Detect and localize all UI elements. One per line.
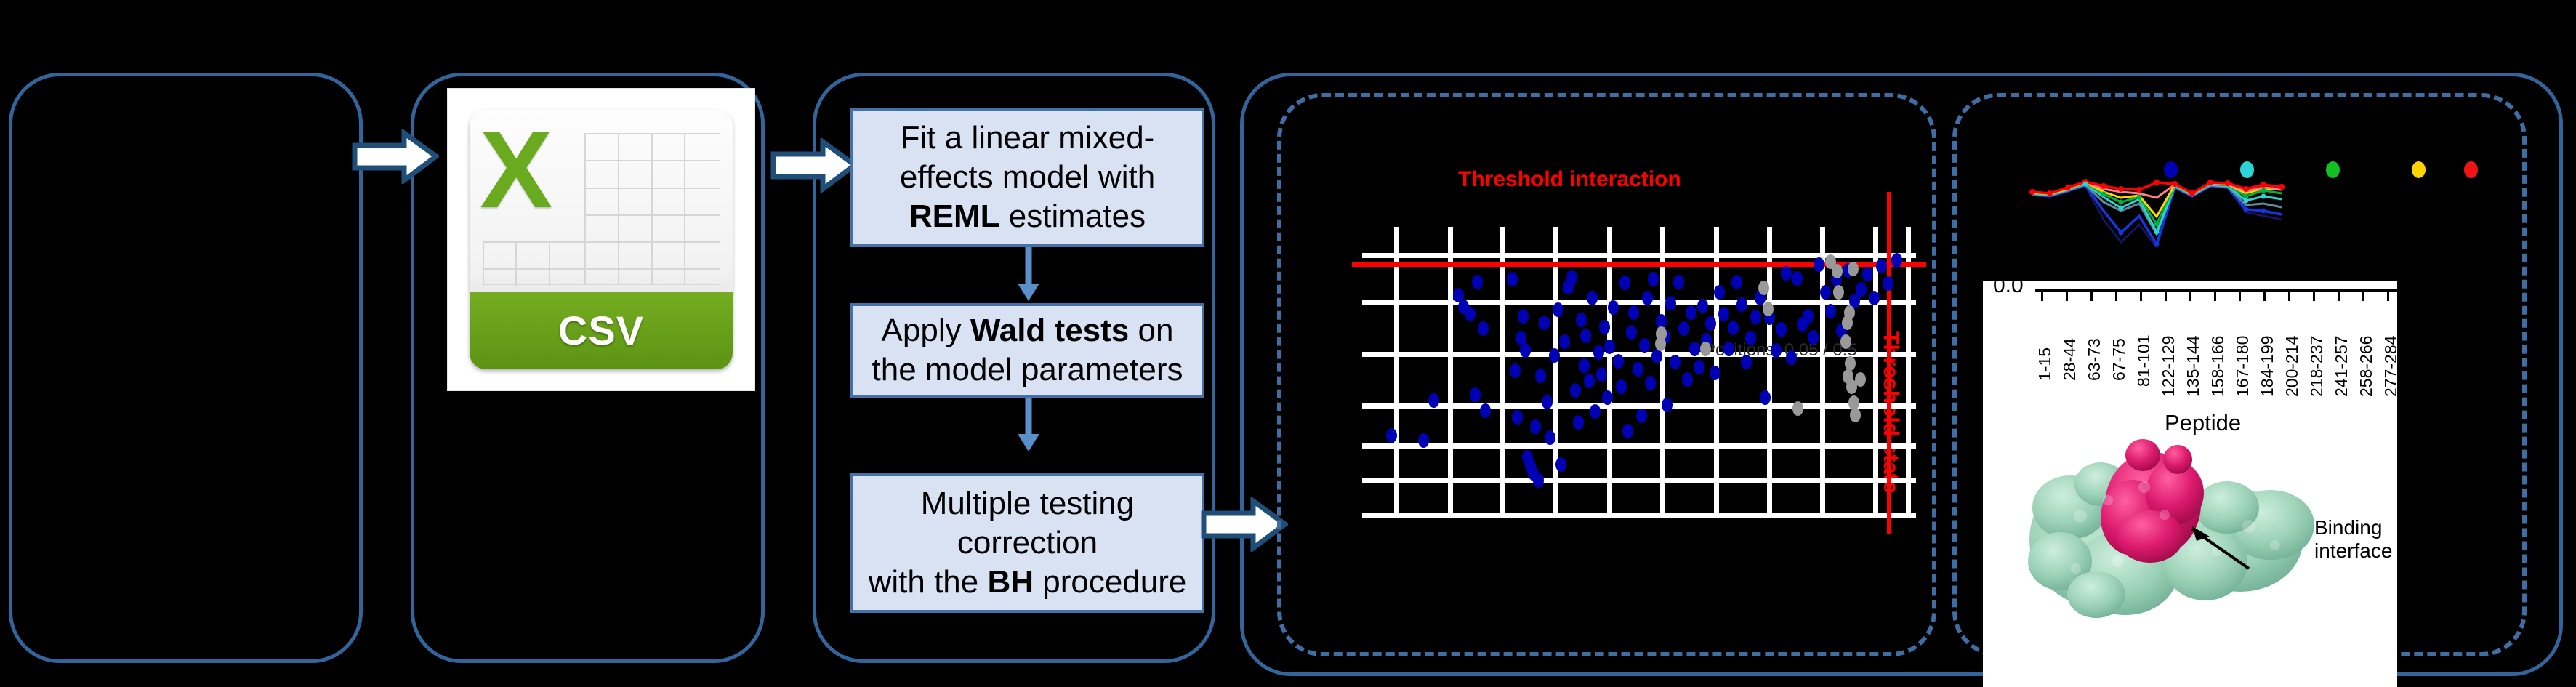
xtick-label: 158-166 [2208, 336, 2228, 397]
volcano-plot-area: Positions: 0.05 / 0.5 [1362, 227, 1916, 518]
step-mt-post: procedure [1034, 564, 1186, 600]
arrow-step2-to-step3 [1014, 398, 1043, 453]
step-fit-model-line1: Fit a linear mixed- [900, 118, 1155, 158]
step-wald-tests-line2: the model parameters [872, 350, 1183, 390]
step-wald-pre: Apply [882, 313, 970, 348]
step-mt-pre: with the [869, 564, 988, 600]
x-axis-line [2035, 289, 2397, 292]
xtick-label: 67-75 [2109, 338, 2129, 381]
threshold-interaction-label: Threshold interaction [1458, 167, 1681, 192]
xtick-label: 258-266 [2356, 336, 2376, 397]
step-wald-post: on [1129, 313, 1173, 348]
step-fit-model-box[interactable]: Fit a linear mixed- effects model with R… [850, 108, 1204, 247]
arrow-csv-to-stats [770, 138, 858, 193]
panel-input [9, 73, 363, 663]
xtick-label: 63-73 [2085, 338, 2104, 381]
csv-format-band: CSV [470, 292, 733, 369]
legend-dot-2 [2240, 161, 2254, 178]
legend-dot-4 [2412, 161, 2426, 178]
pipeline-figure: X CSV Fit a linear mixed- effects model … [0, 0, 2576, 687]
xtick-label: 218-237 [2307, 336, 2327, 397]
legend-dot-3 [2326, 161, 2340, 178]
xtick-label: 241-257 [2332, 336, 2351, 397]
step-mt-line2: correction [869, 523, 1187, 563]
step-mt-bh: BH [987, 564, 1034, 600]
xtick-label: 167-180 [2233, 336, 2253, 397]
threshold-state-line [1887, 192, 1891, 534]
step-multiple-testing-box[interactable]: Multiple testing correction with the BH … [850, 473, 1204, 613]
xtick-label: 277-284 [2381, 336, 2397, 397]
arrow-stats-to-results [1201, 497, 1288, 552]
step-fit-model-line2: effects model with [900, 158, 1155, 197]
step-mt-line1: Multiple testing [869, 484, 1187, 523]
csv-format-label: CSV [558, 307, 644, 354]
step-fit-model-line3: REML estimates [900, 197, 1155, 236]
legend-dot-5 [2464, 161, 2478, 178]
step-wald-tests-box[interactable]: Apply Wald tests on the model parameters [850, 303, 1204, 398]
xtick-label: 200-214 [2282, 336, 2302, 397]
arrow-input-to-csv [352, 129, 439, 184]
step-wald-bold: Wald tests [970, 313, 1129, 348]
arrow-step1-to-step2 [1014, 247, 1043, 302]
y-axis-tick-label: 0.0 [1993, 281, 2024, 298]
protein-structure-render [2009, 430, 2343, 641]
xtick-label: 28-44 [2060, 338, 2080, 381]
binding-interface-label-line2: interface [2314, 539, 2392, 563]
csv-file-icon: X CSV [448, 89, 754, 390]
step-fit-model-reml: REML [909, 198, 1000, 234]
binding-interface-label-line1: Binding [2314, 516, 2382, 539]
xtick-label: 184-199 [2258, 336, 2277, 397]
xtick-label: 81-101 [2134, 334, 2154, 387]
step-fit-model-estimates: estimates [1000, 198, 1146, 234]
xtick-label: 135-144 [2183, 336, 2203, 397]
volcano-plot: Threshold interaction Threshold state [1352, 145, 1926, 531]
peptide-line-chart-svg [2028, 167, 2544, 276]
csv-x-letter: X [480, 115, 585, 234]
step-wald-tests-line1: Apply Wald tests on [872, 311, 1183, 350]
xtick-label: 1-15 [2035, 347, 2055, 381]
csv-tile: X CSV [470, 110, 733, 369]
legend-dot-1 [2164, 161, 2178, 178]
peptide-line-chart [2028, 167, 2544, 276]
step-mt-line3: with the BH procedure [869, 563, 1187, 602]
structure-result-card: 0.0 1-15 28-44 63-73 67-75 81-101 122-12… [1983, 281, 2397, 687]
xtick-label: 122-129 [2159, 336, 2178, 397]
